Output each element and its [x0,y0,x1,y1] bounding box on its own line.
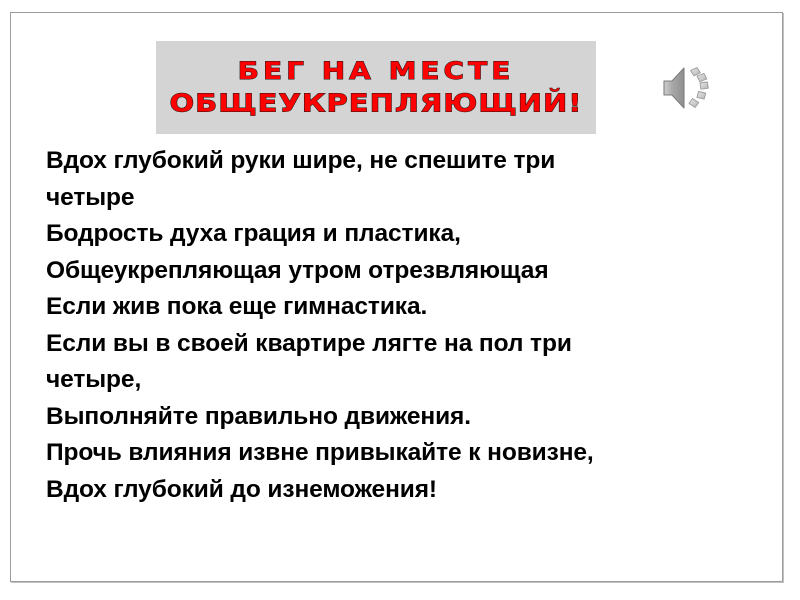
body-line: Вдох глубокий руки шире, не спешите три [46,143,746,180]
body-line: Бодрость духа грация и пластика, [46,216,746,253]
body-text-block: Вдох глубокий руки шире, не спешите три … [46,143,746,508]
title-line-2: ОБЩЕУКРЕПЛЯЮЩИЙ! [169,90,582,117]
body-line: Выполняйте правильно движения. [46,399,746,436]
slide-frame: БЕГ НА МЕСТЕ ОБЩЕУКРЕПЛЯЮЩИЙ! [10,12,783,582]
speaker-sound-icon[interactable] [659,60,715,116]
title-line-1: БЕГ НА МЕСТЕ [238,58,515,84]
body-line: четыре [46,180,746,217]
body-line: Общеукрепляющая утром отрезвляющая [46,253,746,290]
body-line: Прочь влияния извне привыкайте к новизне… [46,435,746,472]
body-line: Если вы в своей квартире лягте на пол тр… [46,326,746,363]
body-line: Вдох глубокий до изнеможения! [46,472,746,509]
body-line: четыре, [46,362,746,399]
body-line: Если жив пока еще гимнастика. [46,289,746,326]
title-box: БЕГ НА МЕСТЕ ОБЩЕУКРЕПЛЯЮЩИЙ! [156,41,596,134]
